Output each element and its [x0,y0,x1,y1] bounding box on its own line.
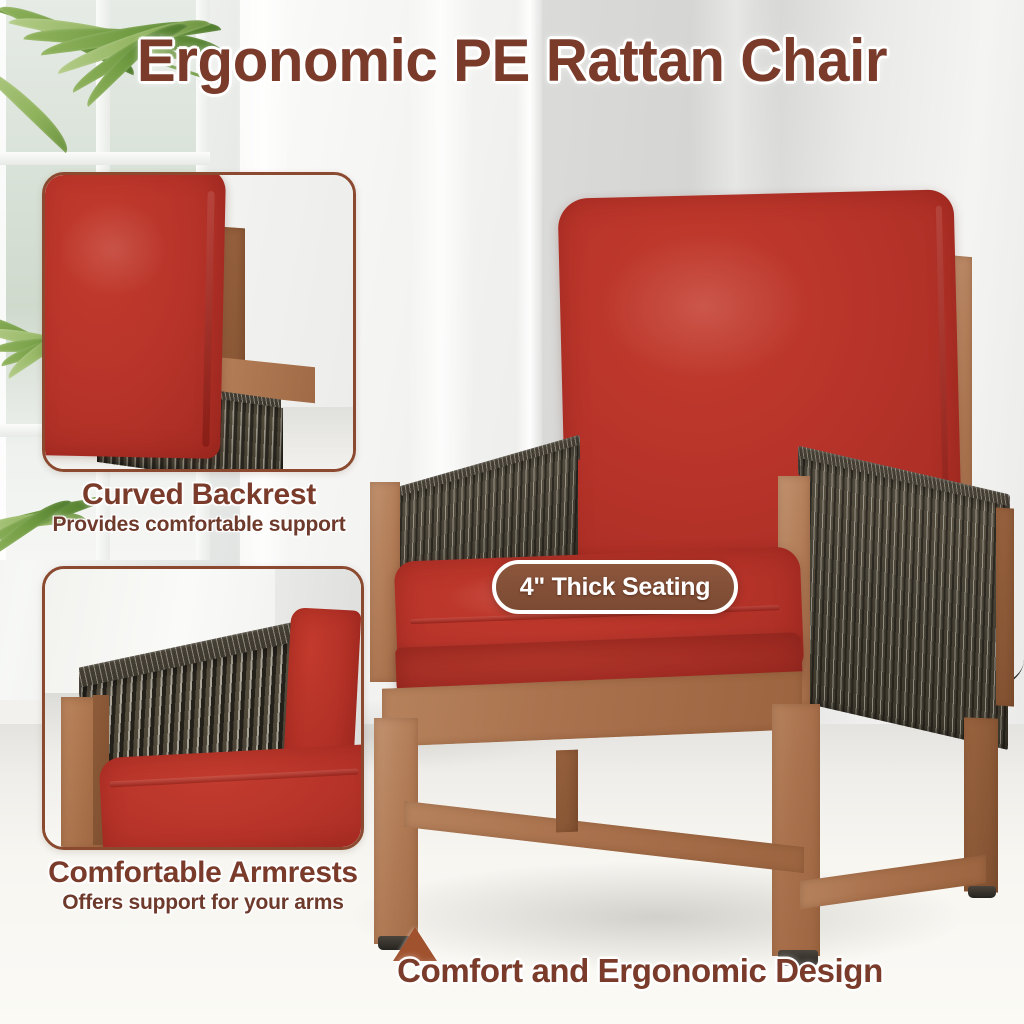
thick-seating-badge: 4" Thick Seating [492,560,738,614]
callout-image-curved-backrest [45,175,353,469]
callout-title: Comfortable Armrests [42,856,364,890]
center-support-post [556,750,578,833]
thick-seating-badge-label: 4" Thick Seating [520,573,710,602]
callout-title: Curved Backrest [42,478,356,512]
callout-caption: Comfortable Armrests Offers support for … [42,856,364,915]
window-mullion-horizontal [0,152,210,165]
right-arm-rear-post [996,507,1014,706]
callout-subtitle: Provides comfortable support [42,513,356,537]
glide-foot [968,886,996,898]
right-side-stretcher [800,855,986,909]
left-side-stretcher [404,801,804,873]
front-left-leg [374,718,418,944]
callout-frame [42,172,356,472]
right-arm-rattan-panel [800,458,1008,750]
callout-subtitle: Offers support for your arms [42,891,364,915]
page-title: Ergonomic PE Rattan Chair [15,26,1008,95]
callout-image-comfortable-armrests [45,569,361,847]
callout-frame [42,566,364,850]
bottom-caption: Comfort and Ergonomic Design [380,952,900,990]
callout-caption: Curved Backrest Provides comfortable sup… [42,478,356,537]
product-infographic: Ergonomic PE Rattan Chair [0,0,1024,1024]
callout-comfortable-armrests: Comfortable Armrests Offers support for … [42,566,364,850]
callout-curved-backrest: Curved Backrest Provides comfortable sup… [42,172,356,472]
front-right-leg [772,704,820,956]
